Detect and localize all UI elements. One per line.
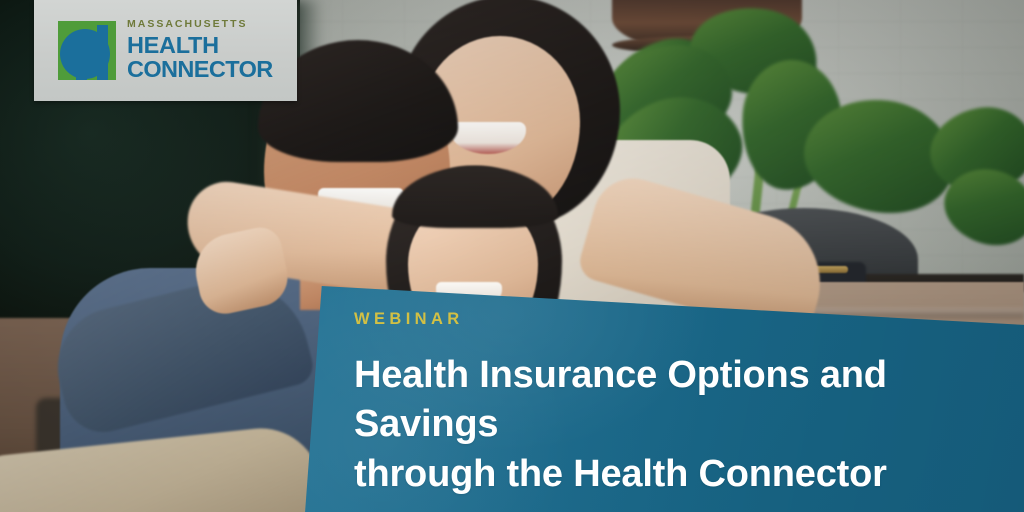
banner-headline: Health Insurance Options and Savings thr…: [354, 351, 994, 499]
banner-headline-line-2: through the Health Connector: [354, 450, 994, 499]
health-connector-logo[interactable]: MASSACHUSETTS HEALTH CONNECTOR: [34, 0, 297, 101]
promo-banner-canvas: MASSACHUSETTS HEALTH CONNECTOR WEBINAR H…: [0, 0, 1024, 512]
banner-kicker: WEBINAR: [354, 310, 994, 329]
health-connector-wordmark: MASSACHUSETTS HEALTH CONNECTOR: [127, 19, 273, 81]
logo-state-label: MASSACHUSETTS: [127, 19, 273, 30]
logo-word-connector: CONNECTOR: [127, 58, 273, 82]
logo-word-health: HEALTH: [127, 34, 273, 58]
banner-headline-line-1: Health Insurance Options and Savings: [354, 354, 887, 445]
banner-text-block: WEBINAR Health Insurance Options and Sav…: [354, 310, 994, 499]
health-connector-h-mark-icon: [58, 21, 116, 80]
